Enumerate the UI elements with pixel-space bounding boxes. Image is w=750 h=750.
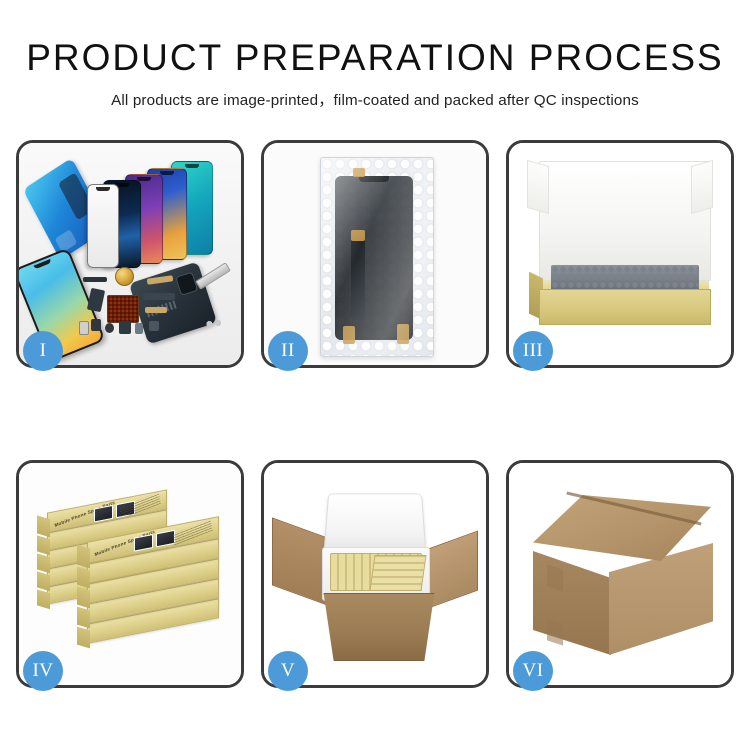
- box-side: [37, 571, 50, 591]
- small-part-icon: [119, 321, 131, 334]
- plastic-sheen-overlay: [321, 158, 433, 356]
- box-thumbnail-icon: [134, 534, 153, 552]
- box-thumbnail-icon: [94, 505, 113, 523]
- copper-shield-icon: [107, 295, 139, 323]
- step-panel-6[interactable]: VI: [506, 460, 734, 688]
- speaker-module-icon: [115, 267, 134, 286]
- box-side: [77, 607, 90, 629]
- box-side: [77, 567, 90, 589]
- yellow-box-tray-icon: [539, 289, 711, 325]
- small-part-icon: [135, 323, 143, 334]
- page-title: PRODUCT PREPARATION PROCESS: [0, 0, 750, 78]
- step-badge-3: III: [513, 331, 553, 371]
- flex-cable-icon: [83, 277, 107, 282]
- notch-icon: [137, 177, 151, 181]
- step-badge-6: VI: [513, 651, 553, 691]
- page-subtitle: All products are image-printed，film-coat…: [0, 78, 750, 110]
- small-part-icon: [79, 321, 89, 335]
- step-image-4: Mobile Phone Spare Parts Mobile Pho: [19, 463, 241, 685]
- step-panel-3[interactable]: III: [506, 140, 734, 368]
- phone-lineup: [89, 157, 239, 267]
- carton-body-icon: [316, 593, 442, 661]
- product-process-page: PRODUCT PREPARATION PROCESS All products…: [0, 0, 750, 750]
- notch-icon: [96, 187, 110, 191]
- step-panel-4[interactable]: Mobile Phone Spare Parts Mobile Pho: [16, 460, 244, 688]
- small-part-icon: [149, 321, 159, 331]
- step-badge-2: II: [268, 331, 308, 371]
- box-flap-left-icon: [527, 160, 549, 214]
- step-panel-1[interactable]: I: [16, 140, 244, 368]
- box-side: [37, 553, 50, 573]
- packed-boxes-icon: [369, 555, 426, 591]
- step-badge-4: IV: [23, 651, 63, 691]
- small-part-icon: [105, 323, 114, 333]
- flex-cable-icon: [143, 293, 175, 300]
- flex-cable-icon: [145, 307, 167, 313]
- white-box-lid-icon: [539, 161, 711, 281]
- screws-icon: [205, 319, 227, 329]
- box-side: [77, 587, 90, 609]
- step-image-5: [264, 463, 486, 685]
- bubble-wrap-package-icon: [320, 157, 434, 357]
- small-part-icon: [91, 319, 101, 331]
- box-stack: Mobile Phone Spare Parts Mobile Pho: [25, 477, 241, 677]
- notch-icon: [160, 171, 174, 175]
- step-image-1: [19, 143, 241, 365]
- foam-box-lid-icon: [324, 493, 427, 551]
- step-panel-5[interactable]: V: [261, 460, 489, 688]
- box-side: [37, 535, 50, 555]
- box-side: [77, 627, 90, 649]
- page-header: PRODUCT PREPARATION PROCESS All products…: [0, 0, 750, 110]
- box-side: [37, 589, 50, 609]
- step-badge-5: V: [268, 651, 308, 691]
- step-image-6: [509, 463, 731, 685]
- screen-glass-icon: [87, 184, 119, 268]
- step-badge-1: I: [23, 331, 63, 371]
- box-flap-right-icon: [691, 160, 713, 214]
- notch-icon: [185, 164, 199, 168]
- step-image-2: [264, 143, 486, 365]
- step-image-3: [509, 143, 731, 365]
- process-steps-grid: I II: [16, 140, 734, 688]
- step-panel-2[interactable]: II: [261, 140, 489, 368]
